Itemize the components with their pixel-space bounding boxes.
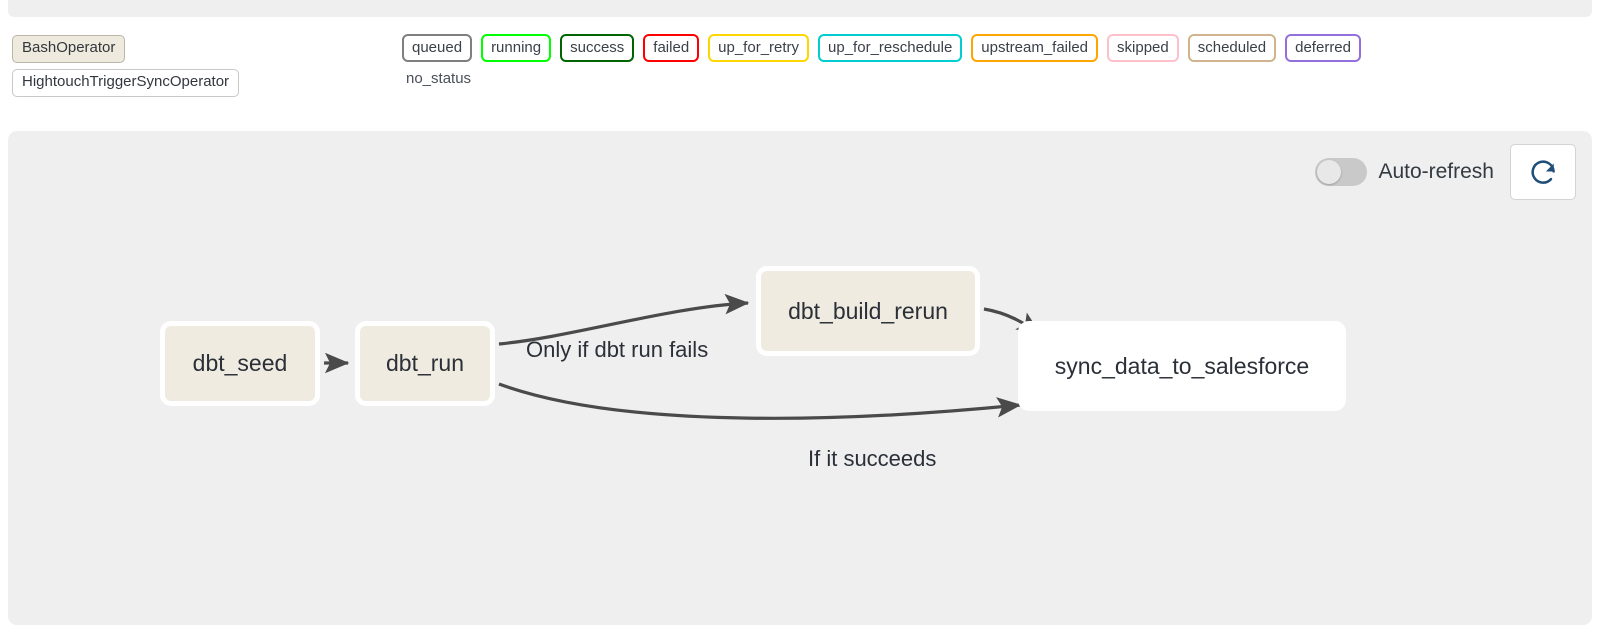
status-legend-col-queued: queued no_status xyxy=(402,34,481,87)
status-chip-skipped[interactable]: skipped xyxy=(1107,34,1179,62)
graph-node-dbt-seed[interactable]: dbt_seed xyxy=(160,321,320,406)
status-chip-upstream-failed[interactable]: upstream_failed xyxy=(971,34,1098,62)
operator-legend: BashOperator HightouchTriggerSyncOperato… xyxy=(12,35,239,97)
graph-canvas[interactable]: dbt_seed dbt_run dbt_build_rerun sync_da… xyxy=(8,131,1592,625)
status-chip-up-for-reschedule[interactable]: up_for_reschedule xyxy=(818,34,962,62)
edge-dbt-run-to-sync-data-to-salesforce xyxy=(499,384,1020,418)
status-chip-success[interactable]: success xyxy=(560,34,634,62)
status-chip-up-for-retry[interactable]: up_for_retry xyxy=(708,34,809,62)
edge-label-if-it-succeeds: If it succeeds xyxy=(808,446,936,472)
dag-graph-view: BashOperator HightouchTriggerSyncOperato… xyxy=(0,0,1600,625)
graph-node-label: sync_data_to_salesforce xyxy=(1055,353,1309,380)
legend-row: BashOperator HightouchTriggerSyncOperato… xyxy=(0,30,1600,110)
status-chip-deferred[interactable]: deferred xyxy=(1285,34,1361,62)
graph-node-label: dbt_run xyxy=(386,350,464,377)
edge-label-only-if-dbt-run-fails: Only if dbt run fails xyxy=(526,337,708,363)
graph-node-label: dbt_build_rerun xyxy=(788,298,948,325)
graph-node-dbt-run[interactable]: dbt_run xyxy=(355,321,495,406)
status-note-no-status: no_status xyxy=(406,70,471,87)
operator-chip-hightouchtriggersyncoperator[interactable]: HightouchTriggerSyncOperator xyxy=(12,69,239,97)
status-chip-scheduled[interactable]: scheduled xyxy=(1188,34,1276,62)
operator-chip-bashoperator[interactable]: BashOperator xyxy=(12,35,125,63)
top-panel-edge xyxy=(8,0,1592,17)
status-legend: queued no_status running success failed … xyxy=(402,34,1370,87)
status-chip-failed[interactable]: failed xyxy=(643,34,699,62)
status-chip-queued[interactable]: queued xyxy=(402,34,472,62)
graph-node-label: dbt_seed xyxy=(193,350,288,377)
graph-node-dbt-build-rerun[interactable]: dbt_build_rerun xyxy=(756,266,980,356)
graph-node-sync-data-to-salesforce[interactable]: sync_data_to_salesforce xyxy=(1018,321,1346,411)
graph-panel: Auto-refresh xyxy=(8,131,1592,625)
status-chip-running[interactable]: running xyxy=(481,34,551,62)
